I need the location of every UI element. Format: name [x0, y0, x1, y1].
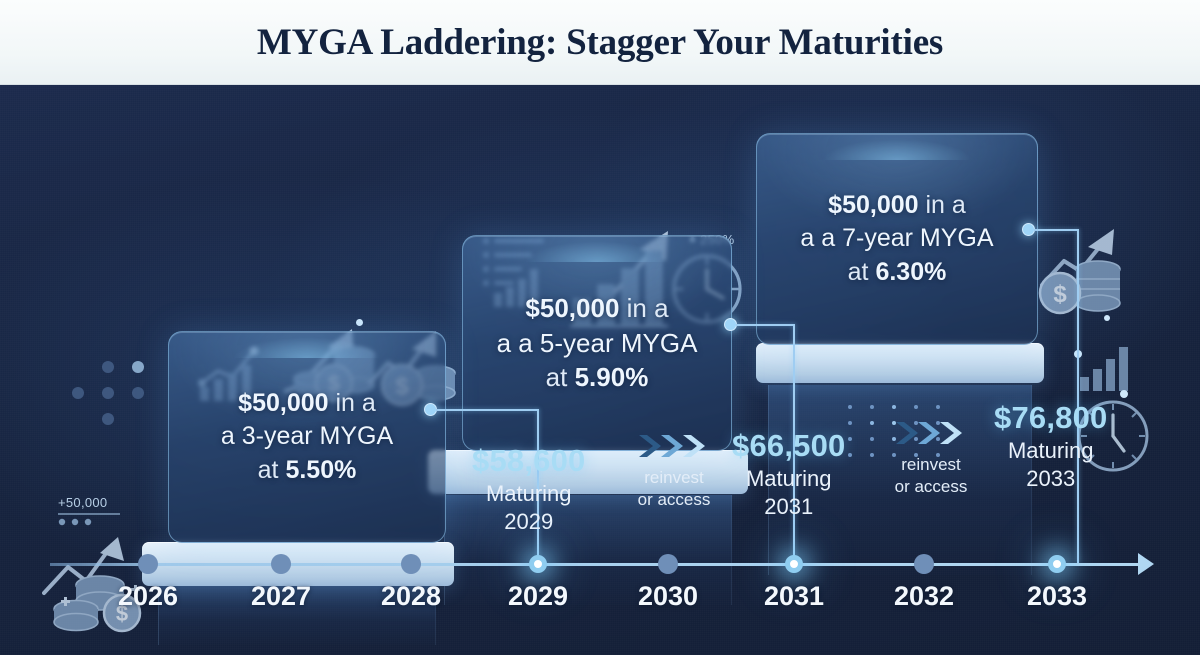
card-2-line-2: a a 5-year MYGA [497, 326, 698, 361]
decorative-bar-chart-icon-2 [1078, 343, 1142, 393]
step-pedestal-1 [142, 542, 454, 586]
timeline-year-2032: 2032 [894, 581, 954, 612]
card-1-line-2: a 3-year MYGA [221, 420, 393, 454]
reinvest-group-2: reinvest or access [872, 420, 990, 498]
maturity-amount-2031: $66,500 [732, 428, 845, 464]
decorative-dot-matrix-left [36, 355, 146, 445]
decorative-underline-dots-left [58, 513, 128, 527]
reinvest-label-1-line2: or access [615, 489, 733, 511]
page-title: MYGA Laddering: Stagger Your Maturities [257, 21, 943, 64]
ladder-card-5-year[interactable]: $50,000 in a a a 5-year MYGA at 5.90% [462, 235, 732, 451]
svg-text:$: $ [116, 601, 128, 626]
timeline-arrow-icon [1138, 553, 1154, 575]
infographic-root: MYGA Laddering: Stagger Your Maturities … [0, 0, 1200, 655]
maturity-callout-2033: $76,800 Maturing 2033 [994, 400, 1107, 492]
card-3-line-1: $50,000 in a [828, 189, 966, 223]
maturity-label-2031-line2: 2031 [732, 494, 845, 520]
step-pedestal-3 [756, 343, 1044, 383]
svg-text:$: $ [1053, 281, 1067, 308]
decorative-spark-5 [1120, 390, 1128, 398]
reinvest-group-1: reinvest or access [615, 433, 733, 511]
decorative-coins-arrow-icon-3: $ [1036, 227, 1140, 323]
card-glow-1 [202, 316, 412, 358]
reinvest-label-2-line2: or access [872, 476, 990, 498]
step-riser-1 [158, 585, 436, 645]
chevron-triple-icon-2 [872, 420, 990, 446]
decorative-label-plus-50000: +50,000 [58, 495, 107, 510]
title-bar: MYGA Laddering: Stagger Your Maturities [0, 0, 1200, 85]
timeline-year-2031: 2031 [764, 581, 824, 612]
chart-canvas: +50,000 $ [0, 85, 1200, 655]
connector-vline-3 [1077, 229, 1079, 563]
ladder-card-7-year[interactable]: $50,000 in a a a 7-year MYGA at 6.30% [756, 133, 1038, 345]
maturity-amount-2033: $76,800 [994, 400, 1107, 436]
card-glow-2 [495, 220, 699, 262]
card-3-line-3: at 6.30% [848, 256, 947, 290]
timeline-node-2033[interactable] [1048, 555, 1066, 573]
card-1-line-3: at 5.50% [258, 454, 357, 488]
maturity-label-2029-line1: Maturing [472, 481, 585, 507]
maturity-label-2029-line2: 2029 [472, 509, 585, 535]
connector-hline-3 [1034, 229, 1078, 231]
reinvest-label-1-line1: reinvest [615, 467, 733, 489]
maturity-label-2031-line1: Maturing [732, 466, 845, 492]
maturity-callout-2031: $66,500 Maturing 2031 [732, 428, 845, 520]
reinvest-label-2-line1: reinvest [872, 454, 990, 476]
card-2-line-1: $50,000 in a [525, 291, 668, 326]
card-3-line-2: a a 7-year MYGA [800, 222, 993, 256]
decorative-spark-3 [1104, 315, 1110, 321]
decorative-spark-1 [356, 319, 363, 326]
maturity-label-2033-line2: 2033 [994, 466, 1107, 492]
timeline-year-2033: 2033 [1027, 581, 1087, 612]
maturity-label-2033-line1: Maturing [994, 438, 1107, 464]
card-glow-3 [791, 118, 1004, 160]
card-1-line-1: $50,000 in a [238, 387, 376, 421]
card-2-line-3: at 5.90% [546, 360, 649, 395]
decorative-spark-4 [1074, 350, 1082, 358]
maturity-callout-2029: $58,600 Maturing 2029 [472, 443, 585, 535]
maturity-amount-2029: $58,600 [472, 443, 585, 479]
chevron-triple-icon-1 [615, 433, 733, 459]
ladder-card-3-year[interactable]: $50,000 in a a 3-year MYGA at 5.50% [168, 331, 446, 543]
